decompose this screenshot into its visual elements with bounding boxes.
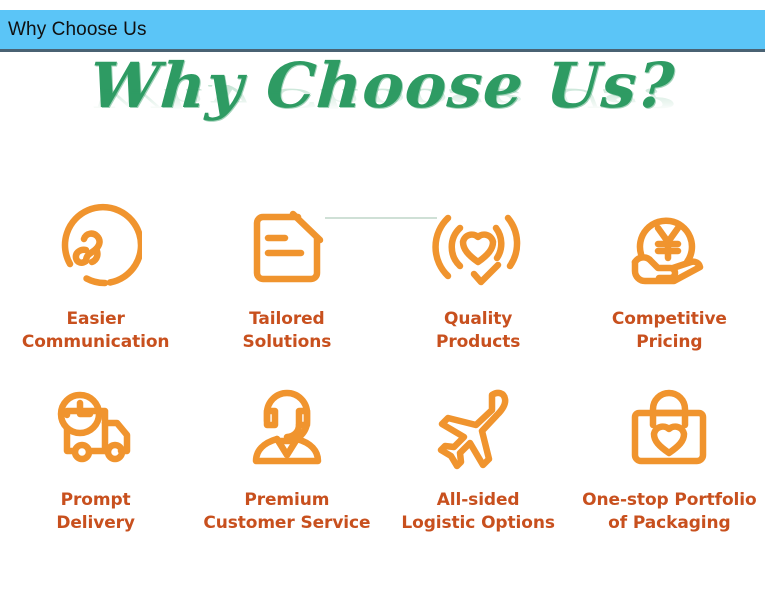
feature-item-easier-communication[interactable]: Easier Communication [0,196,191,353]
feature-item-quality-products[interactable]: Quality Products [383,196,574,353]
features-grid: Easier Communication Tailored Solutions [0,196,765,534]
feature-label: Prompt Delivery [56,489,135,534]
window-title: Why Choose Us [0,19,147,41]
shopping-bag-heart-icon [619,377,719,477]
heart-signal-check-icon [428,196,528,296]
headset-agent-icon [237,377,337,477]
feature-item-competitive-pricing[interactable]: Competitive Pricing [574,196,765,353]
airplane-icon [428,377,528,477]
page-title: Why Choose Us? [88,55,677,117]
feature-label: Tailored Solutions [242,308,331,353]
feature-item-prompt-delivery[interactable]: Prompt Delivery [0,377,191,534]
document-pencil-icon [237,196,337,296]
feature-label: All-sided Logistic Options [401,489,554,534]
feature-label: Easier Communication [22,308,170,353]
feature-label: Quality Products [436,308,520,353]
feature-label: One-stop Portfolio of Packaging [582,489,756,534]
feature-item-tailored-solutions[interactable]: Tailored Solutions [191,196,382,353]
hand-holding-yen-coin-icon [619,196,719,296]
delivery-truck-clock-icon [46,377,146,477]
ear-listening-icon [46,196,146,296]
features-row-1: Easier Communication Tailored Solutions [0,196,765,353]
window-titlebar: Why Choose Us [0,10,765,52]
feature-label: Competitive Pricing [612,308,727,353]
feature-item-one-stop-portfolio-of-packaging[interactable]: One-stop Portfolio of Packaging [574,377,765,534]
hero-section: Why Choose Us? Why Choose Us? [0,55,765,175]
feature-item-all-sided-logistic-options[interactable]: All-sided Logistic Options [383,377,574,534]
feature-label: Premium Customer Service [203,489,370,534]
feature-item-premium-customer-service[interactable]: Premium Customer Service [191,377,382,534]
page-title-wrap: Why Choose Us? [0,55,765,117]
features-row-2: Prompt Delivery Premium Customer Service [0,377,765,534]
